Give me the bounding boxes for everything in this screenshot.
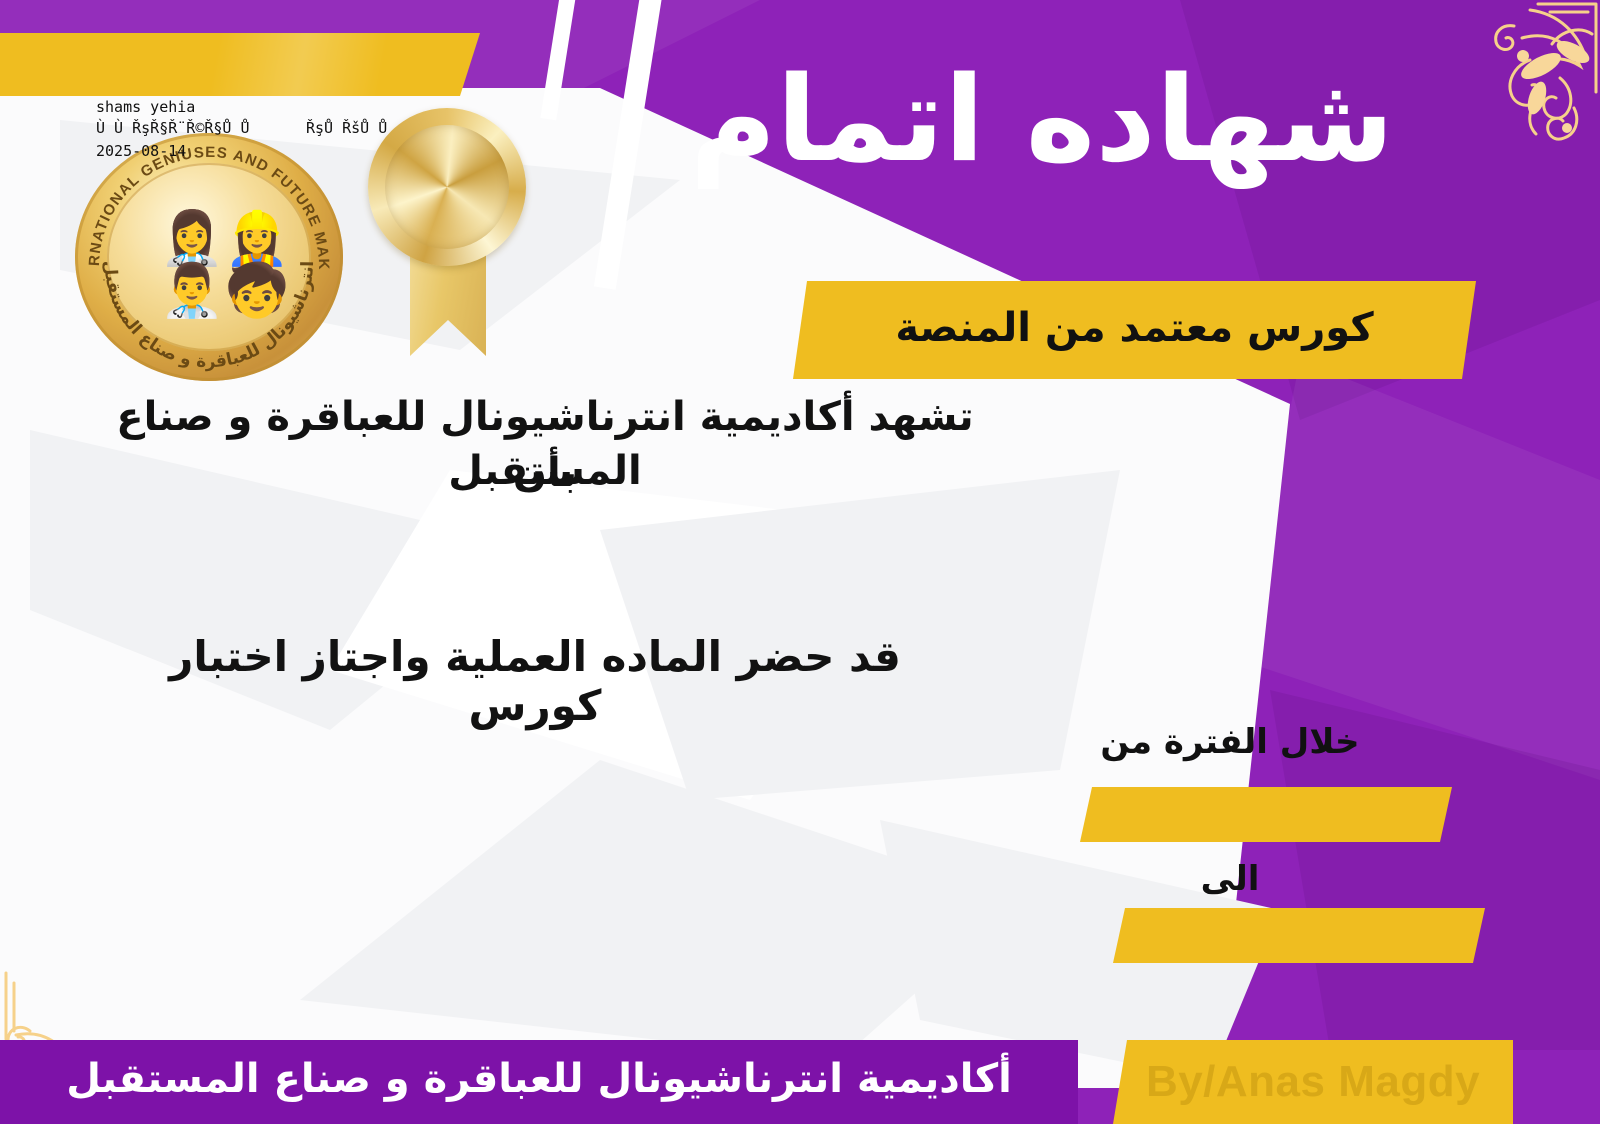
- certificate-canvas: شهاده اتمام كورس معتمد من المنصة 👷‍♀️👩‍⚕…: [0, 0, 1600, 1124]
- overlay-student-info: shams yehia Ù Ù ŘşŘ§Ř¨Ř©Ř§Ů Ů ŘşŮ ŘšŮ Ů …: [96, 96, 132, 233]
- logo-arc-bottom-label: انترناشيونال للعباقرة و صناع المستقبل: [100, 260, 318, 372]
- footer-credit-bar: By/Anas Magdy: [1113, 1040, 1513, 1124]
- corner-ornament-top-right: [1410, 0, 1600, 150]
- accredited-banner-label: كورس معتمد من المنصة: [895, 305, 1373, 351]
- period-from-field[interactable]: [1080, 787, 1452, 842]
- top-gold-slab: [0, 33, 490, 96]
- period-from-label: خلال الفترة من: [1060, 722, 1400, 762]
- period-to-label: الى: [1060, 859, 1400, 899]
- period-to-field[interactable]: [1113, 908, 1485, 963]
- gold-medal: [368, 108, 528, 358]
- overlay-date: 2025-08-14: [96, 140, 186, 163]
- overlay-student-name: shams yehia: [96, 96, 195, 119]
- that-line: بأن: [110, 450, 980, 496]
- footer-credit-label: By/Anas Magdy: [1146, 1057, 1480, 1107]
- footer-academy-bar: أكاديمية انترناشيونال للعباقرة و صناع ال…: [0, 1040, 1078, 1124]
- medal-inner-disc: [385, 125, 509, 249]
- body-line: قد حضر الماده العملية واجتاز اختبار كورس: [150, 632, 920, 730]
- overlay-arabic-right: ŘşŮ ŘšŮ Ů: [306, 117, 387, 140]
- page-title: شهاده اتمام: [662, 58, 1422, 182]
- accredited-banner: كورس معتمد من المنصة: [793, 281, 1476, 379]
- svg-text:انترناشيونال للعباقرة و صناع ا: انترناشيونال للعباقرة و صناع المستقبل: [100, 260, 318, 372]
- overlay-arabic-left: Ù Ù ŘşŘ§Ř¨Ř©Ř§Ů Ů: [96, 117, 250, 140]
- footer-academy-label: أكاديمية انترناشيونال للعباقرة و صناع ال…: [66, 1056, 1012, 1102]
